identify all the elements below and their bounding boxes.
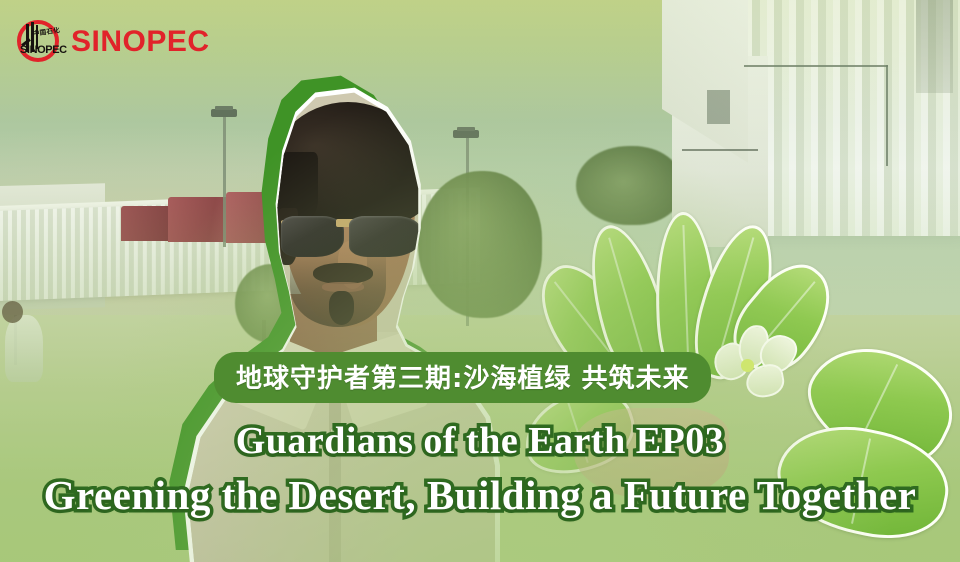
logo-glyph: 中国石化 SINOPEC xyxy=(14,17,62,67)
sinopec-logo-icon: 中国石化 SINOPEC xyxy=(14,17,62,67)
sinopec-wordmark: SINOPEC xyxy=(71,25,210,59)
english-title-line-2: Greening the Desert, Building a Future T… xyxy=(0,471,960,519)
english-title-line-1: Guardians of the Earth EP03 xyxy=(0,419,960,463)
logo-glyph-chinese: 中国石化 xyxy=(33,28,61,38)
video-frame: 中国石化 SINOPEC SINOPEC 地球守护者第三期:沙海植绿 共筑未来 … xyxy=(0,0,960,562)
logo-glyph-english: SINOPEC xyxy=(20,45,67,56)
chinese-title-banner: 地球守护者第三期:沙海植绿 共筑未来 xyxy=(214,352,711,403)
sinopec-logo: 中国石化 SINOPEC SINOPEC xyxy=(14,17,210,67)
